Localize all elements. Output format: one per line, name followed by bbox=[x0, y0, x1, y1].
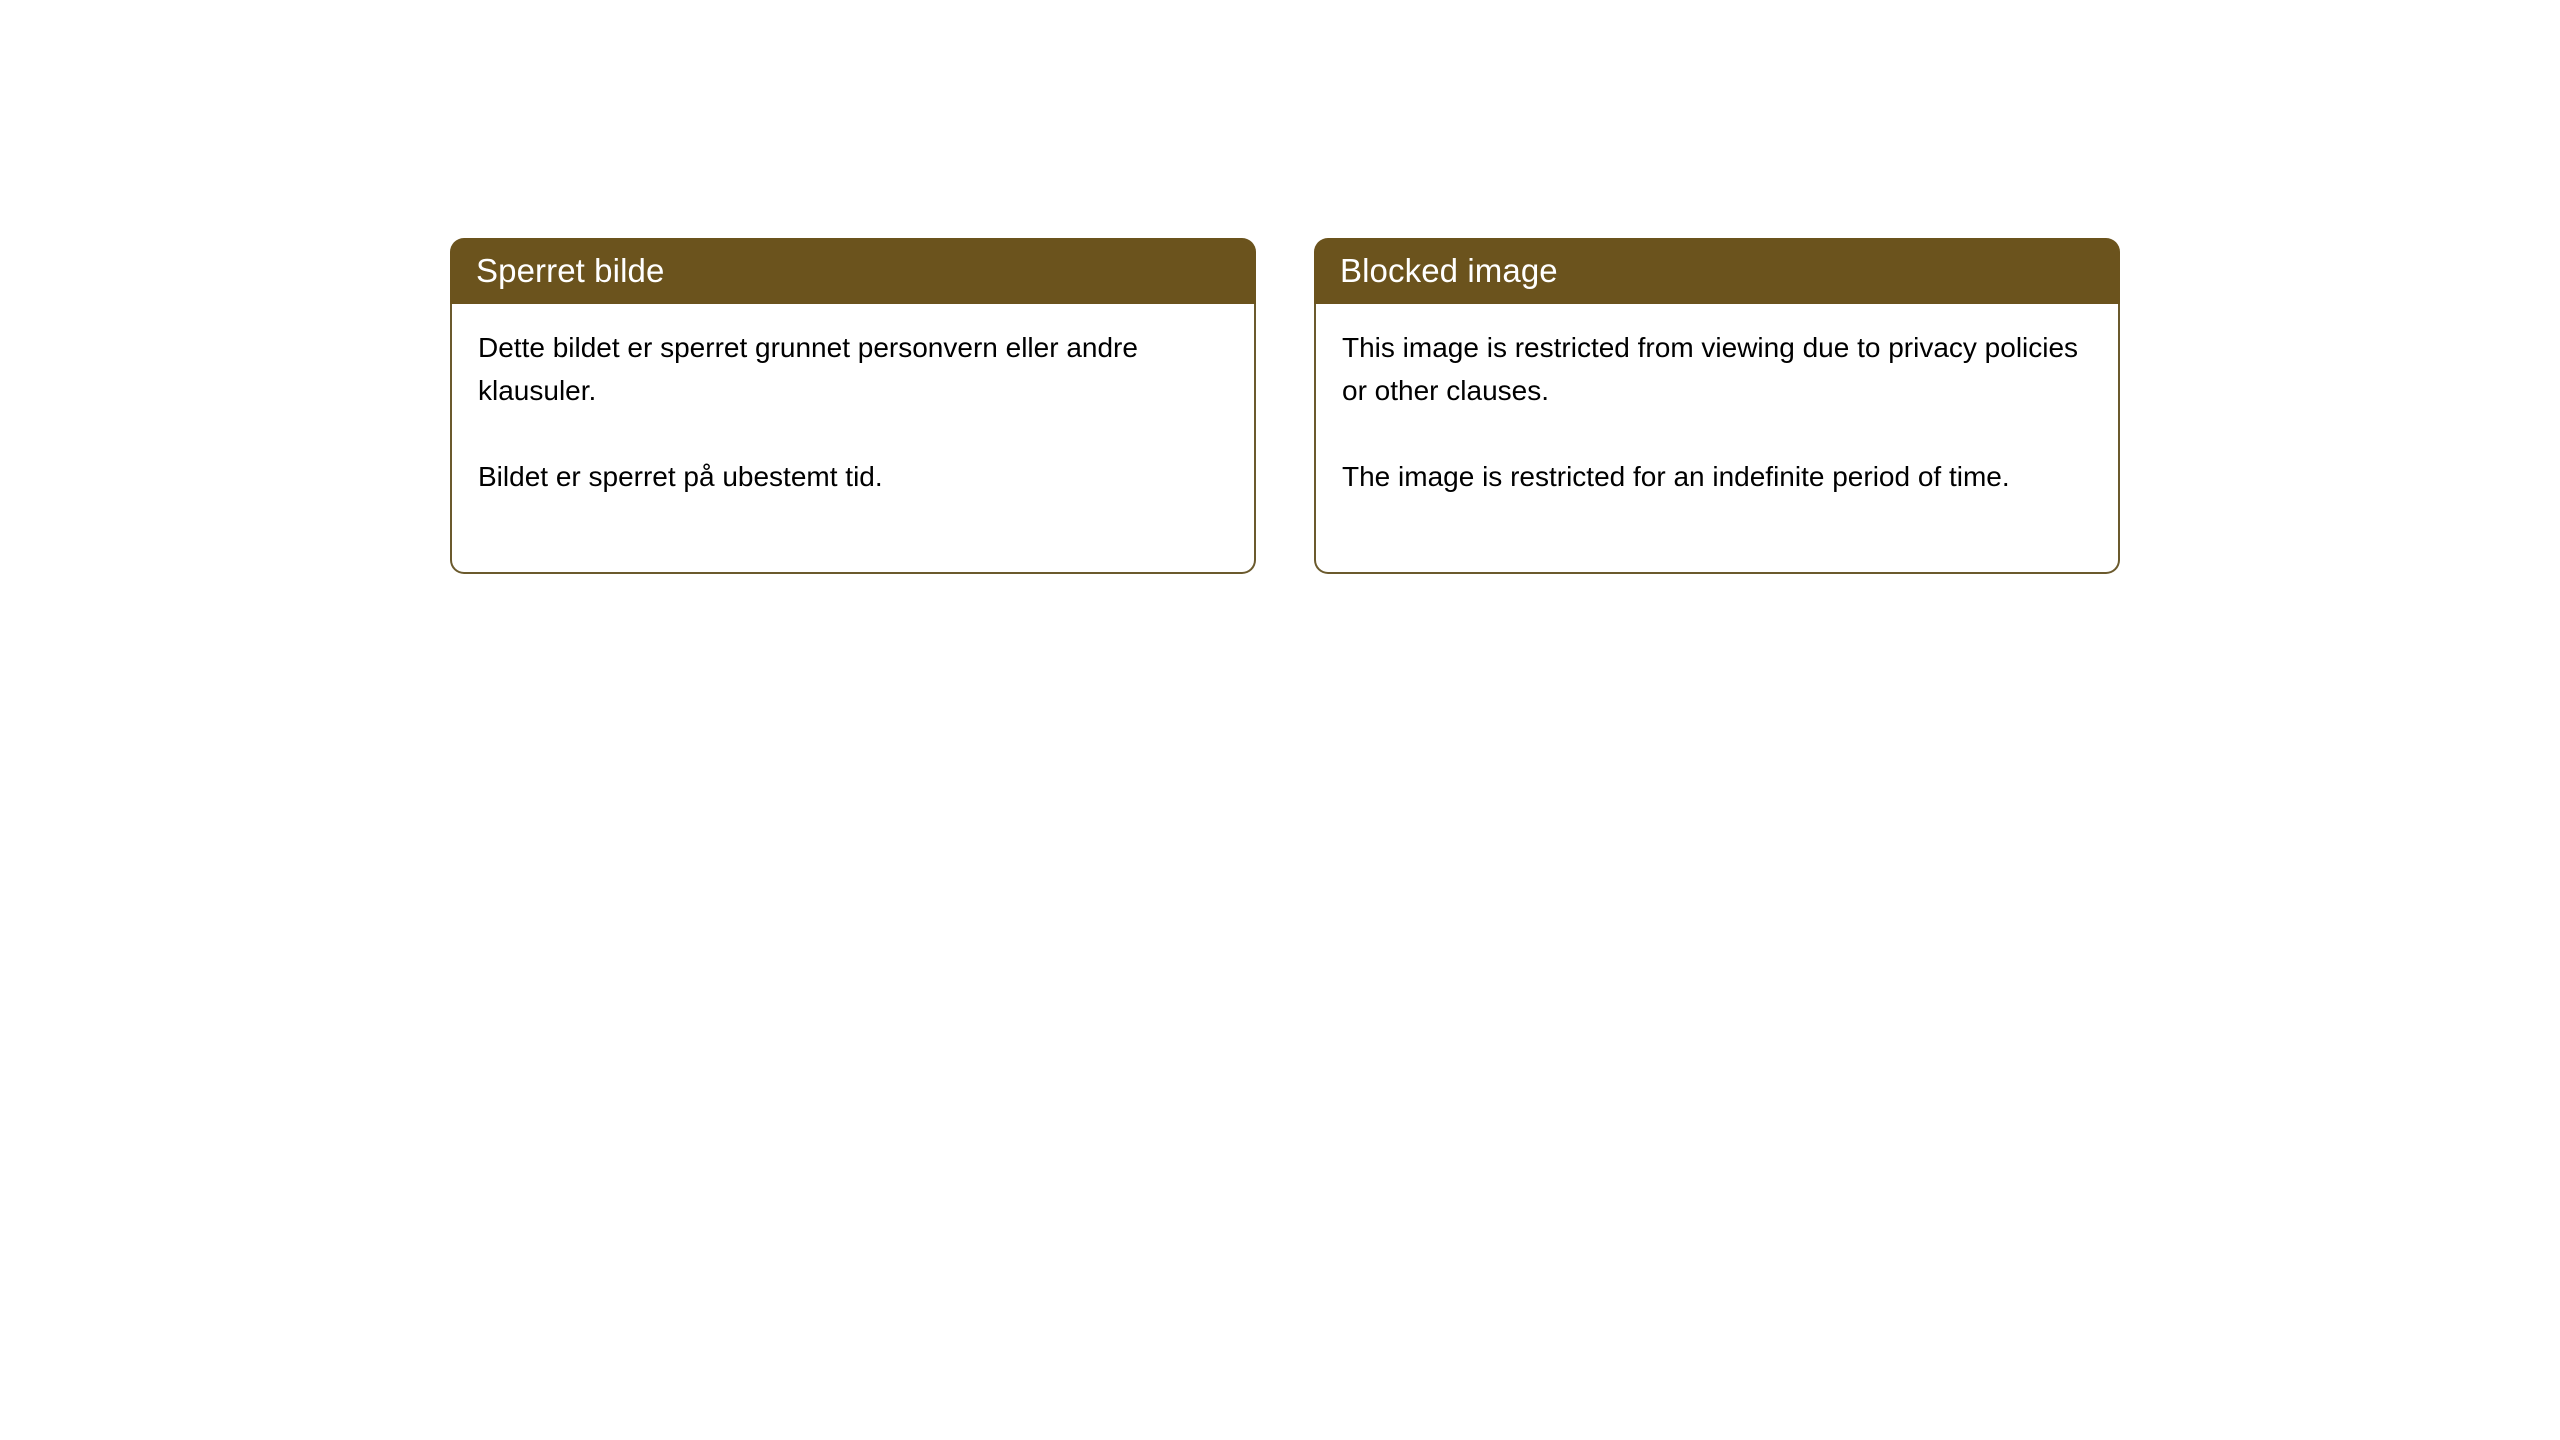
blocked-image-card-norwegian: Sperret bilde Dette bildet er sperret gr… bbox=[450, 238, 1256, 574]
page-root: Sperret bilde Dette bildet er sperret gr… bbox=[0, 0, 2560, 1440]
card-paragraph-duration-norwegian: Bildet er sperret på ubestemt tid. bbox=[478, 455, 1218, 498]
card-body-english: This image is restricted from viewing du… bbox=[1314, 304, 2120, 574]
blocked-image-card-english: Blocked image This image is restricted f… bbox=[1314, 238, 2120, 574]
card-header-norwegian: Sperret bilde bbox=[450, 238, 1256, 304]
card-paragraph-reason-english: This image is restricted from viewing du… bbox=[1342, 326, 2082, 412]
card-paragraph-reason-norwegian: Dette bildet er sperret grunnet personve… bbox=[478, 326, 1218, 412]
card-title-norwegian: Sperret bilde bbox=[476, 251, 664, 291]
card-title-english: Blocked image bbox=[1340, 251, 1558, 291]
notice-card-group: Sperret bilde Dette bildet er sperret gr… bbox=[450, 238, 2120, 574]
card-header-english: Blocked image bbox=[1314, 238, 2120, 304]
card-paragraph-duration-english: The image is restricted for an indefinit… bbox=[1342, 455, 2082, 498]
card-body-norwegian: Dette bildet er sperret grunnet personve… bbox=[450, 304, 1256, 574]
